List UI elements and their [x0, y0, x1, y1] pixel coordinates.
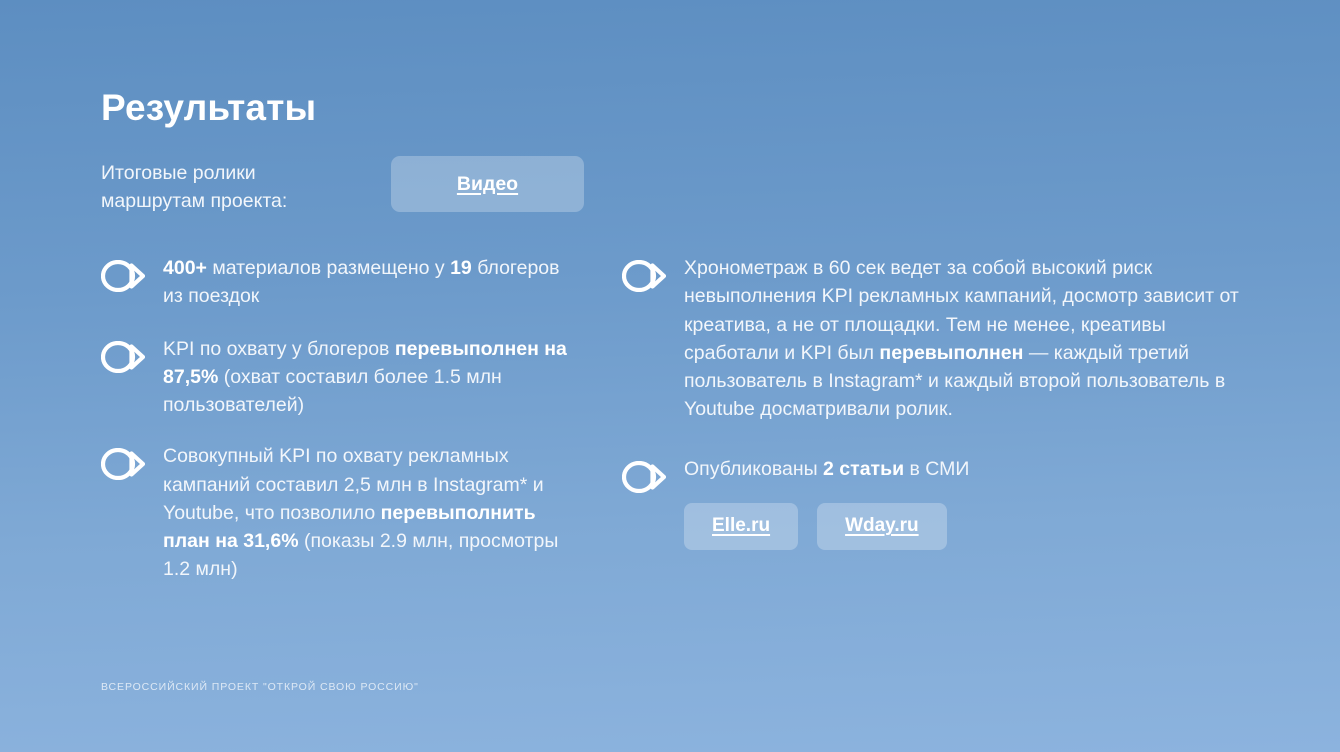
footer-caption: ВСЕРОССИЙСКИЙ ПРОЕКТ "ОТКРОЙ СВОЮ РОССИЮ… — [101, 681, 419, 693]
list-item-text: Опубликованы 2 статьи в СМИ — [684, 451, 1242, 483]
right-column: Хронометраж в 60 сек ведет за собой высо… — [622, 250, 1242, 550]
list-item-text: 400+ материалов размещено у 19 блогеров … — [163, 250, 571, 311]
media-link-wday[interactable]: Wday.ru — [817, 503, 947, 550]
list-item-text: KPI по охвату у блогеров перевыполнен на… — [163, 331, 571, 420]
media-links-row: Elle.ru Wday.ru — [684, 503, 1242, 550]
list-item-text: Совокупный KPI по охвату рекламных кампа… — [163, 438, 571, 583]
left-column: 400+ материалов размещено у 19 блогеров … — [101, 250, 571, 584]
media-link-elle[interactable]: Elle.ru — [684, 503, 798, 550]
page-title: Результаты — [101, 88, 316, 129]
subtitle-text: Итоговые ролики маршрутам проекта: — [101, 156, 391, 215]
list-item-text: Хронометраж в 60 сек ведет за собой высо… — [684, 250, 1242, 424]
slide-canvas: Результаты Итоговые ролики маршрутам про… — [0, 0, 1340, 752]
teardrop-ring-icon — [101, 341, 145, 373]
video-link-button[interactable]: Видео — [391, 156, 584, 212]
list-item: Совокупный KPI по охвату рекламных кампа… — [101, 438, 571, 583]
teardrop-ring-icon — [622, 260, 666, 292]
list-item: KPI по охвату у блогеров перевыполнен на… — [101, 331, 571, 420]
teardrop-ring-icon — [622, 461, 666, 493]
list-item: Хронометраж в 60 сек ведет за собой высо… — [622, 250, 1242, 424]
teardrop-ring-icon — [101, 260, 145, 292]
list-item: 400+ материалов размещено у 19 блогеров … — [101, 250, 571, 311]
list-item: Опубликованы 2 статьи в СМИ Elle.ru Wday… — [622, 451, 1242, 550]
subtitle-row: Итоговые ролики маршрутам проекта: Видео — [101, 156, 584, 215]
teardrop-ring-icon — [101, 448, 145, 480]
